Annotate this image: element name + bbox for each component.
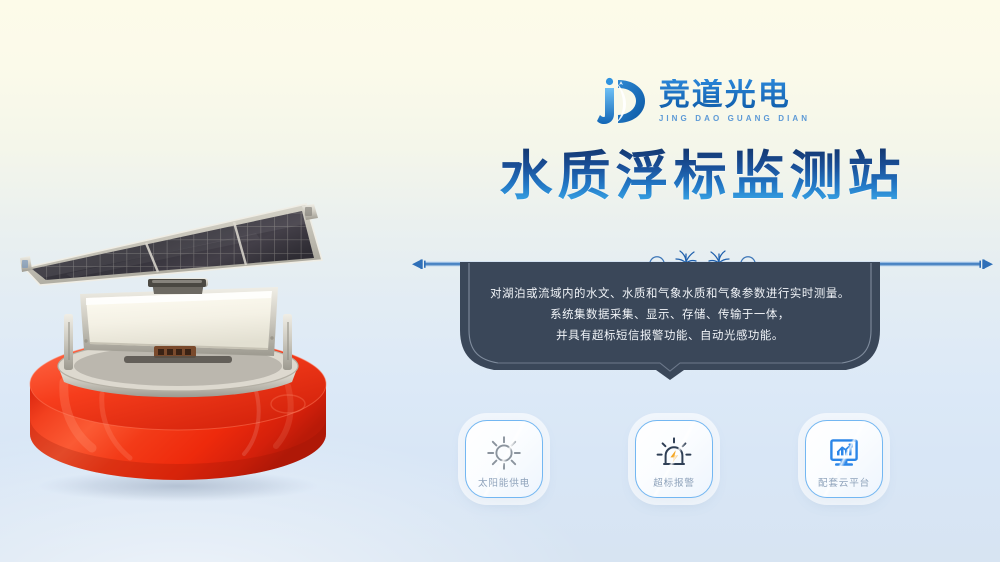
page-title: 水质浮标监测站 [405, 146, 1000, 209]
alarm-siren-icon [654, 434, 694, 472]
content-column: 竞道光电 JING DAO GUANG DIAN 水质浮标监测站 [405, 0, 1000, 562]
feature-card-label: 超标报警 [636, 475, 712, 489]
brand-name-pinyin: JING DAO GUANG DIAN [659, 114, 810, 123]
description-line: 系统集数据采集、显示、存储、传输于一体， [460, 305, 880, 326]
description-panel: 对湖泊或流域内的水文、水质和气象水质和气象参数进行实时测量。 系统集数据采集、显… [460, 262, 880, 380]
arrow-endcap-icon [979, 259, 993, 269]
brand-logo[interactable]: 竞道光电 JING DAO GUANG DIAN [405, 74, 1000, 128]
feature-card-cloud-platform[interactable]: 配套云平台 [805, 420, 883, 498]
hero-banner: 竞道光电 JING DAO GUANG DIAN 水质浮标监测站 [0, 0, 1000, 562]
brand-name-cn: 竞道光电 [659, 79, 791, 112]
jd-monogram-logo-icon [595, 74, 649, 128]
description-line: 并具有超标短信报警功能、自动光感功能。 [460, 326, 880, 347]
feature-card-overlimit-alarm[interactable]: 超标报警 [635, 420, 713, 498]
feature-card-list: 太阳能供电 [465, 420, 965, 530]
feature-card-label: 太阳能供电 [466, 475, 542, 489]
feature-card-label: 配套云平台 [806, 475, 882, 489]
feature-card-solar-power[interactable]: 太阳能供电 [465, 420, 543, 498]
solar-panel [20, 204, 322, 294]
product-image [6, 186, 350, 498]
monitor-chart-icon [824, 434, 864, 472]
description-line: 对湖泊或流域内的水文、水质和气象水质和气象参数进行实时测量。 [460, 284, 880, 305]
arrow-endcap-icon [412, 259, 426, 269]
description-text: 对湖泊或流域内的水文、水质和气象水质和气象参数进行实时测量。 系统集数据采集、显… [460, 284, 880, 347]
sun-icon [484, 434, 524, 472]
